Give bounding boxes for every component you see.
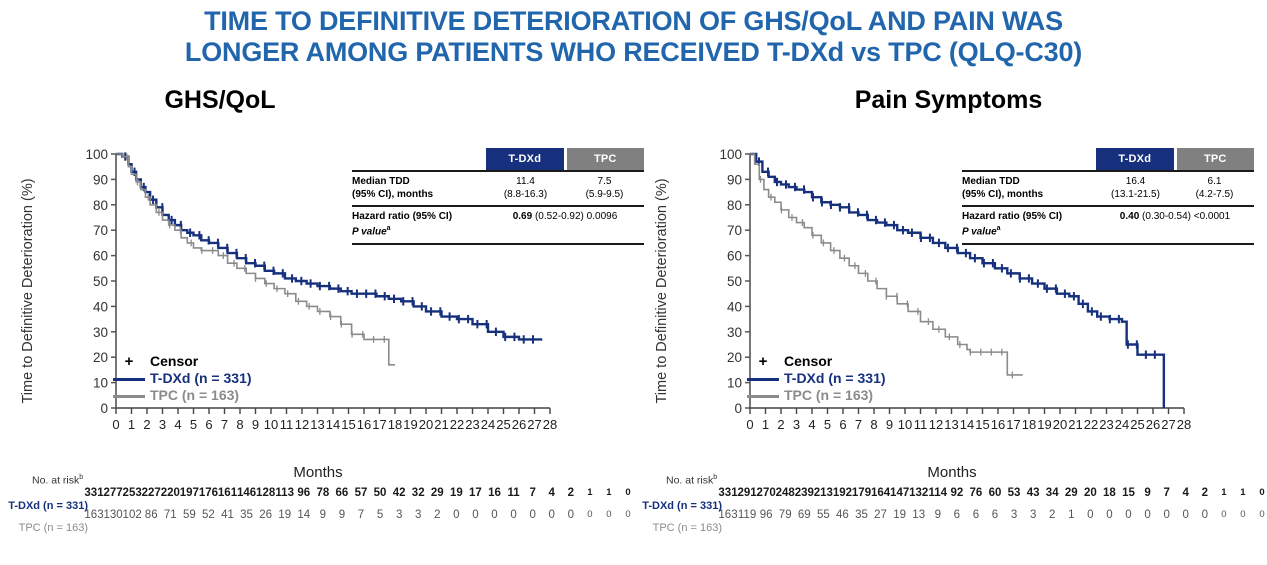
risk-value: 146 [237, 487, 256, 499]
svg-text:5: 5 [190, 417, 197, 432]
stats-median-tpc-ci: (5.9-9.5) [586, 189, 624, 200]
risk-value: 0 [1106, 509, 1112, 521]
risk-value: 79 [779, 509, 792, 521]
svg-text:90: 90 [93, 172, 108, 187]
risk-value: 96 [297, 487, 310, 499]
svg-text:28: 28 [543, 417, 557, 432]
panel-pain-symptoms: Pain Symptoms Time to Definitive Deterio… [630, 86, 1267, 556]
stats-p-value: 0.0096 [587, 211, 618, 222]
risk-value: 5 [377, 509, 383, 521]
risk-value: 71 [164, 509, 177, 521]
svg-text:28: 28 [1177, 417, 1191, 432]
stats-label-pvalue: P value [962, 226, 997, 237]
stats-label-median-l1: Median TDD [962, 176, 1020, 187]
stats-label-pvalue: P value [352, 226, 387, 237]
chart-legend: + Censor T-DXd (n = 331) TPC (n = 163) [108, 353, 252, 404]
risk-row-label-tpc: TPC (n = 163) [638, 522, 724, 534]
risk-value: 6 [973, 509, 979, 521]
legend-item-tdxd: T-DXd (n = 331) [742, 370, 886, 387]
risk-row-tpc: TPC (n = 163) 16311996796955463527191396… [638, 509, 1267, 531]
legend-label-tpc: TPC (n = 163) [784, 387, 873, 404]
svg-text:23: 23 [1099, 417, 1113, 432]
svg-text:3: 3 [159, 417, 166, 432]
risk-value: 0 [568, 509, 574, 521]
risk-row-label-tdxd: T-DXd (n = 331) [4, 500, 90, 512]
risk-value: 0 [453, 509, 459, 521]
svg-text:70: 70 [727, 223, 742, 238]
risk-value: 27 [874, 509, 887, 521]
risk-values-tdxd: 3312912702482392131921791641471321149276… [724, 487, 1267, 509]
risk-value: 0 [1144, 509, 1150, 521]
svg-text:100: 100 [719, 147, 742, 162]
svg-text:10: 10 [727, 376, 742, 391]
risk-value: 11 [507, 487, 519, 499]
stats-row-label-hr: Hazard ratio (95% CI) P valuea [352, 211, 486, 239]
svg-text:13: 13 [310, 417, 324, 432]
risk-row-tpc: TPC (n = 163) 16313010286715952413526191… [4, 509, 634, 531]
svg-text:15: 15 [341, 417, 355, 432]
censor-plus-icon: + [108, 353, 150, 370]
risk-value: 35 [240, 509, 253, 521]
stats-col-header-tdxd: T-DXd [486, 148, 564, 170]
legend-swatch-tpc [742, 387, 784, 404]
svg-text:40: 40 [93, 299, 108, 314]
stats-hr-value: 0.40 [1120, 211, 1139, 222]
legend-item-tdxd: T-DXd (n = 331) [108, 370, 252, 387]
stats-label-hr: Hazard ratio (95% CI) [962, 211, 1062, 222]
risk-table-ghs-qol: No. at riskb T-DXd (n = 331) 33127725322… [4, 474, 634, 531]
page-title-line-2: LONGER AMONG PATIENTS WHO RECEIVED T-DXd… [0, 37, 1267, 68]
risk-value: 2 [434, 509, 440, 521]
risk-value: 29 [431, 487, 444, 499]
legend-swatch-tdxd [108, 370, 150, 387]
svg-text:8: 8 [870, 417, 877, 432]
svg-text:5: 5 [824, 417, 831, 432]
svg-text:24: 24 [481, 417, 495, 432]
risk-value: 1 [606, 487, 611, 498]
risk-value: 9 [1144, 487, 1150, 499]
svg-text:0: 0 [734, 401, 742, 416]
svg-text:40: 40 [727, 299, 742, 314]
slide: TIME TO DEFINITIVE DETERIORATION OF GHS/… [0, 0, 1267, 565]
y-axis-title: Time to Definitive Deterioration (%) [20, 146, 38, 436]
risk-value: 41 [221, 509, 234, 521]
stats-value-median-tdxd: 16.4 (13.1-21.5) [1096, 176, 1175, 201]
stats-rule-bottom [352, 243, 644, 245]
legend-swatch-tpc [108, 387, 150, 404]
risk-value: 164 [871, 487, 890, 499]
svg-text:17: 17 [1006, 417, 1020, 432]
svg-text:60: 60 [93, 249, 108, 264]
stats-value-median-tpc: 6.1 (4.2-7.5) [1175, 176, 1254, 201]
risk-value: 3 [1030, 509, 1036, 521]
svg-text:20: 20 [93, 350, 108, 365]
risk-value: 3 [1011, 509, 1017, 521]
risk-value: 6 [992, 509, 998, 521]
svg-text:21: 21 [1068, 417, 1082, 432]
svg-text:25: 25 [496, 417, 510, 432]
stats-rule-bottom [962, 243, 1254, 245]
svg-text:20: 20 [419, 417, 433, 432]
svg-text:27: 27 [527, 417, 541, 432]
stats-row-label-hr: Hazard ratio (95% CI) P valuea [962, 211, 1096, 239]
stats-hr-ci: (0.30-0.54) [1142, 211, 1191, 222]
stats-label-median-l1: Median TDD [352, 176, 410, 187]
svg-text:11: 11 [914, 417, 928, 432]
risk-value: 270 [757, 487, 776, 499]
risk-value: 60 [989, 487, 1002, 499]
svg-text:2: 2 [777, 417, 784, 432]
svg-text:90: 90 [727, 172, 742, 187]
svg-text:1: 1 [128, 417, 135, 432]
svg-text:9: 9 [886, 417, 893, 432]
risk-values-tpc: 1631199679695546352719139666332100000000… [724, 509, 1267, 531]
risk-value: 0 [1221, 509, 1226, 520]
risk-table-title: No. at riskb [666, 474, 1267, 487]
stats-col-header-tpc: TPC [1177, 148, 1255, 170]
svg-text:16: 16 [357, 417, 371, 432]
stats-row-label-median: Median TDD (95% CI), months [352, 176, 486, 201]
risk-value: 1 [1221, 487, 1226, 498]
risk-value: 163 [84, 509, 103, 521]
risk-value: 248 [776, 487, 795, 499]
risk-value: 0 [1259, 487, 1264, 498]
svg-text:9: 9 [252, 417, 259, 432]
svg-text:26: 26 [512, 417, 526, 432]
svg-text:4: 4 [808, 417, 815, 432]
svg-text:15: 15 [975, 417, 989, 432]
risk-value: 26 [259, 509, 272, 521]
risk-value: 9 [320, 509, 326, 521]
risk-value: 29 [1065, 487, 1078, 499]
risk-value: 128 [256, 487, 275, 499]
panel-ghs-qol: GHS/QoL Time to Definitive Deterioration… [0, 86, 640, 556]
stats-col-header-tdxd: T-DXd [1096, 148, 1174, 170]
risk-value: 14 [297, 509, 310, 521]
stats-row-hazard-ratio: Hazard ratio (95% CI) P valuea 0.40 (0.3… [962, 207, 1254, 243]
stats-row-median-tdd: Median TDD (95% CI), months 16.4 (13.1-2… [962, 172, 1254, 205]
risk-table-title-text: No. at risk [666, 475, 713, 487]
risk-value: 0 [1202, 509, 1208, 521]
legend-item-censor: + Censor [742, 353, 886, 370]
risk-value: 163 [718, 509, 737, 521]
risk-value: 20 [1084, 487, 1097, 499]
risk-value: 69 [798, 509, 811, 521]
legend-label-censor: Censor [150, 353, 198, 370]
stats-row-hazard-ratio: Hazard ratio (95% CI) P valuea 0.69 (0.5… [352, 207, 644, 243]
legend-item-tpc: TPC (n = 163) [742, 387, 886, 404]
stats-value-hr-p: 0.40 (0.30-0.54) <0.0001 [1096, 211, 1254, 239]
risk-value: 176 [199, 487, 218, 499]
risk-value: 43 [1027, 487, 1040, 499]
risk-value: 57 [355, 487, 368, 499]
risk-value: 78 [316, 487, 329, 499]
risk-row-label-tdxd: T-DXd (n = 331) [638, 500, 724, 512]
risk-value: 96 [760, 509, 773, 521]
svg-text:26: 26 [1146, 417, 1160, 432]
svg-text:14: 14 [326, 417, 340, 432]
risk-value: 291 [737, 487, 756, 499]
svg-text:13: 13 [944, 417, 958, 432]
risk-value: 16 [488, 487, 501, 499]
risk-value: 0 [1240, 509, 1245, 520]
stats-median-tdxd-ci: (8.8-16.3) [504, 189, 547, 200]
risk-value: 0 [1163, 509, 1169, 521]
svg-text:60: 60 [727, 249, 742, 264]
risk-value: 55 [817, 509, 830, 521]
risk-value: 59 [183, 509, 196, 521]
svg-text:4: 4 [174, 417, 181, 432]
risk-value: 179 [852, 487, 871, 499]
risk-row-tdxd: T-DXd (n = 331) 331291270248239213192179… [638, 487, 1267, 509]
risk-value: 92 [950, 487, 963, 499]
legend-label-tdxd: T-DXd (n = 331) [784, 370, 886, 387]
svg-text:80: 80 [93, 198, 108, 213]
stats-row-median-tdd: Median TDD (95% CI), months 11.4 (8.8-16… [352, 172, 644, 205]
svg-text:10: 10 [898, 417, 912, 432]
risk-value: 220 [161, 487, 180, 499]
risk-value: 7 [1163, 487, 1169, 499]
stats-p-value: <0.0001 [1194, 211, 1230, 222]
risk-value: 3 [415, 509, 421, 521]
risk-value: 119 [738, 509, 756, 521]
risk-value: 86 [145, 509, 158, 521]
risk-value: 253 [123, 487, 142, 499]
legend-label-tdxd: T-DXd (n = 331) [150, 370, 252, 387]
y-axis-title: Time to Definitive Deterioration (%) [654, 146, 672, 436]
stats-median-tdxd-value: 16.4 [1096, 176, 1175, 189]
risk-value: 4 [549, 487, 555, 499]
svg-text:19: 19 [1037, 417, 1051, 432]
stats-median-tdxd-value: 11.4 [486, 176, 565, 189]
risk-value: 0 [510, 509, 516, 521]
svg-text:3: 3 [793, 417, 800, 432]
risk-values-tpc: 1631301028671595241352619149975332000000… [90, 509, 634, 531]
risk-value: 9 [935, 509, 941, 521]
risk-value: 197 [180, 487, 199, 499]
risk-value: 13 [912, 509, 925, 521]
risk-value: 0 [1087, 509, 1093, 521]
risk-value: 53 [1008, 487, 1021, 499]
risk-value: 0 [472, 509, 478, 521]
svg-text:18: 18 [1022, 417, 1036, 432]
censor-plus-icon: + [742, 353, 784, 370]
svg-text:12: 12 [929, 417, 943, 432]
svg-text:18: 18 [388, 417, 402, 432]
svg-text:22: 22 [1084, 417, 1098, 432]
svg-text:21: 21 [434, 417, 448, 432]
risk-table-title-text: No. at risk [32, 475, 79, 487]
svg-text:20: 20 [727, 350, 742, 365]
risk-value: 0 [1259, 509, 1264, 520]
risk-value: 18 [1103, 487, 1116, 499]
legend-item-censor: + Censor [108, 353, 252, 370]
legend-label-tpc: TPC (n = 163) [150, 387, 239, 404]
chart-legend: + Censor T-DXd (n = 331) TPC (n = 163) [742, 353, 886, 404]
stats-label-median-l2: (95% CI), months [352, 189, 433, 200]
risk-table-title-footnote: b [79, 474, 83, 481]
risk-value: 35 [855, 509, 868, 521]
svg-text:10: 10 [264, 417, 278, 432]
risk-value: 7 [529, 487, 535, 499]
risk-value: 66 [336, 487, 349, 499]
risk-value: 239 [795, 487, 814, 499]
svg-text:23: 23 [465, 417, 479, 432]
risk-value: 114 [929, 487, 948, 499]
page-title: TIME TO DEFINITIVE DETERIORATION OF GHS/… [0, 6, 1267, 68]
stats-hr-ci: (0.52-0.92) [535, 211, 584, 222]
risk-table-pain-symptoms: No. at riskb T-DXd (n = 331) 33129127024… [638, 474, 1267, 531]
risk-value: 34 [1046, 487, 1059, 499]
svg-text:7: 7 [221, 417, 228, 432]
svg-text:6: 6 [839, 417, 846, 432]
risk-value: 227 [142, 487, 161, 499]
svg-text:20: 20 [1053, 417, 1067, 432]
svg-text:19: 19 [403, 417, 417, 432]
svg-text:14: 14 [960, 417, 974, 432]
risk-value: 52 [202, 509, 215, 521]
risk-value: 132 [909, 487, 928, 499]
risk-value: 102 [123, 509, 142, 521]
svg-text:0: 0 [100, 401, 108, 416]
svg-text:8: 8 [236, 417, 243, 432]
risk-value: 0 [606, 509, 611, 520]
stats-label-pvalue-footnote: a [387, 225, 391, 232]
stats-hr-line: 0.40 (0.30-0.54) [1120, 211, 1191, 222]
page-title-line-1: TIME TO DEFINITIVE DETERIORATION OF GHS/… [0, 6, 1267, 37]
svg-text:27: 27 [1161, 417, 1175, 432]
svg-text:17: 17 [372, 417, 386, 432]
stats-hr-line: 0.69 (0.52-0.92) [513, 211, 584, 222]
risk-value: 50 [374, 487, 387, 499]
svg-text:7: 7 [855, 417, 862, 432]
risk-value: 4 [1183, 487, 1189, 499]
legend-item-tpc: TPC (n = 163) [108, 387, 252, 404]
svg-text:30: 30 [93, 325, 108, 340]
svg-text:11: 11 [280, 417, 294, 432]
svg-text:80: 80 [727, 198, 742, 213]
risk-value: 19 [450, 487, 463, 499]
svg-text:22: 22 [450, 417, 464, 432]
risk-value: 331 [84, 487, 103, 499]
risk-value: 32 [412, 487, 425, 499]
risk-value: 2 [1049, 509, 1055, 521]
risk-value: 0 [1183, 509, 1189, 521]
stats-median-tpc-value: 6.1 [1175, 176, 1254, 189]
risk-value: 15 [1122, 487, 1135, 499]
risk-value: 6 [954, 509, 960, 521]
risk-value: 9 [339, 509, 345, 521]
svg-text:24: 24 [1115, 417, 1129, 432]
stats-median-tpc-ci: (4.2-7.5) [1196, 189, 1234, 200]
risk-value: 42 [393, 487, 406, 499]
stats-row-label-median: Median TDD (95% CI), months [962, 176, 1096, 201]
svg-text:30: 30 [727, 325, 742, 340]
stats-value-median-tdxd: 11.4 (8.8-16.3) [486, 176, 565, 201]
risk-value: 192 [833, 487, 852, 499]
risk-value: 213 [814, 487, 833, 499]
stats-table-header: T-DXd TPC [1096, 148, 1254, 170]
risk-value: 0 [529, 509, 535, 521]
risk-row-tdxd: T-DXd (n = 331) 331277253227220197176161… [4, 487, 634, 509]
risk-value: 0 [1125, 509, 1131, 521]
svg-text:12: 12 [295, 417, 309, 432]
risk-values-tdxd: 3312772532272201971761611461281139678665… [90, 487, 634, 509]
risk-value: 0 [587, 509, 592, 520]
stats-median-tdxd-ci: (13.1-21.5) [1111, 189, 1160, 200]
risk-value: 76 [970, 487, 983, 499]
stats-label-hr: Hazard ratio (95% CI) [352, 211, 452, 222]
risk-value: 0 [491, 509, 497, 521]
risk-value: 1 [1068, 509, 1074, 521]
svg-text:1: 1 [762, 417, 769, 432]
svg-text:6: 6 [205, 417, 212, 432]
svg-text:0: 0 [746, 417, 753, 432]
risk-value: 0 [549, 509, 555, 521]
svg-text:16: 16 [991, 417, 1005, 432]
svg-text:10: 10 [93, 376, 108, 391]
stats-table-ghs-qol: T-DXd TPC Median TDD (95% CI), months 11… [352, 148, 644, 245]
svg-text:25: 25 [1130, 417, 1144, 432]
risk-value: 46 [836, 509, 849, 521]
risk-value: 7 [358, 509, 364, 521]
risk-value: 161 [218, 487, 237, 499]
risk-value: 2 [568, 487, 574, 499]
stats-table-header: T-DXd TPC [486, 148, 644, 170]
risk-value: 1 [587, 487, 592, 498]
svg-text:0: 0 [112, 417, 119, 432]
svg-text:50: 50 [93, 274, 108, 289]
stats-value-hr-p: 0.69 (0.52-0.92) 0.0096 [486, 211, 644, 239]
risk-value: 19 [278, 509, 291, 521]
legend-swatch-tdxd [742, 370, 784, 387]
risk-value: 331 [718, 487, 737, 499]
risk-value: 1 [1240, 487, 1245, 498]
stats-hr-value: 0.69 [513, 211, 532, 222]
panel-title-ghs-qol: GHS/QoL [0, 86, 540, 115]
risk-value: 17 [469, 487, 482, 499]
svg-text:100: 100 [85, 147, 108, 162]
risk-value: 130 [103, 509, 122, 521]
risk-row-label-tpc: TPC (n = 163) [4, 522, 90, 534]
risk-value: 113 [275, 487, 294, 499]
risk-table-title-footnote: b [713, 474, 717, 481]
stats-table-pain-symptoms: T-DXd TPC Median TDD (95% CI), months 16… [962, 148, 1254, 245]
risk-value: 277 [103, 487, 122, 499]
risk-value: 2 [1202, 487, 1208, 499]
svg-text:50: 50 [727, 274, 742, 289]
stats-label-pvalue-footnote: a [997, 225, 1001, 232]
risk-value: 147 [890, 487, 909, 499]
stats-label-median-l2: (95% CI), months [962, 189, 1043, 200]
svg-text:2: 2 [143, 417, 150, 432]
legend-label-censor: Censor [784, 353, 832, 370]
risk-table-title: No. at riskb [32, 474, 634, 487]
risk-value: 19 [893, 509, 906, 521]
panel-title-pain-symptoms: Pain Symptoms [630, 86, 1267, 115]
risk-value: 3 [396, 509, 402, 521]
svg-text:70: 70 [93, 223, 108, 238]
